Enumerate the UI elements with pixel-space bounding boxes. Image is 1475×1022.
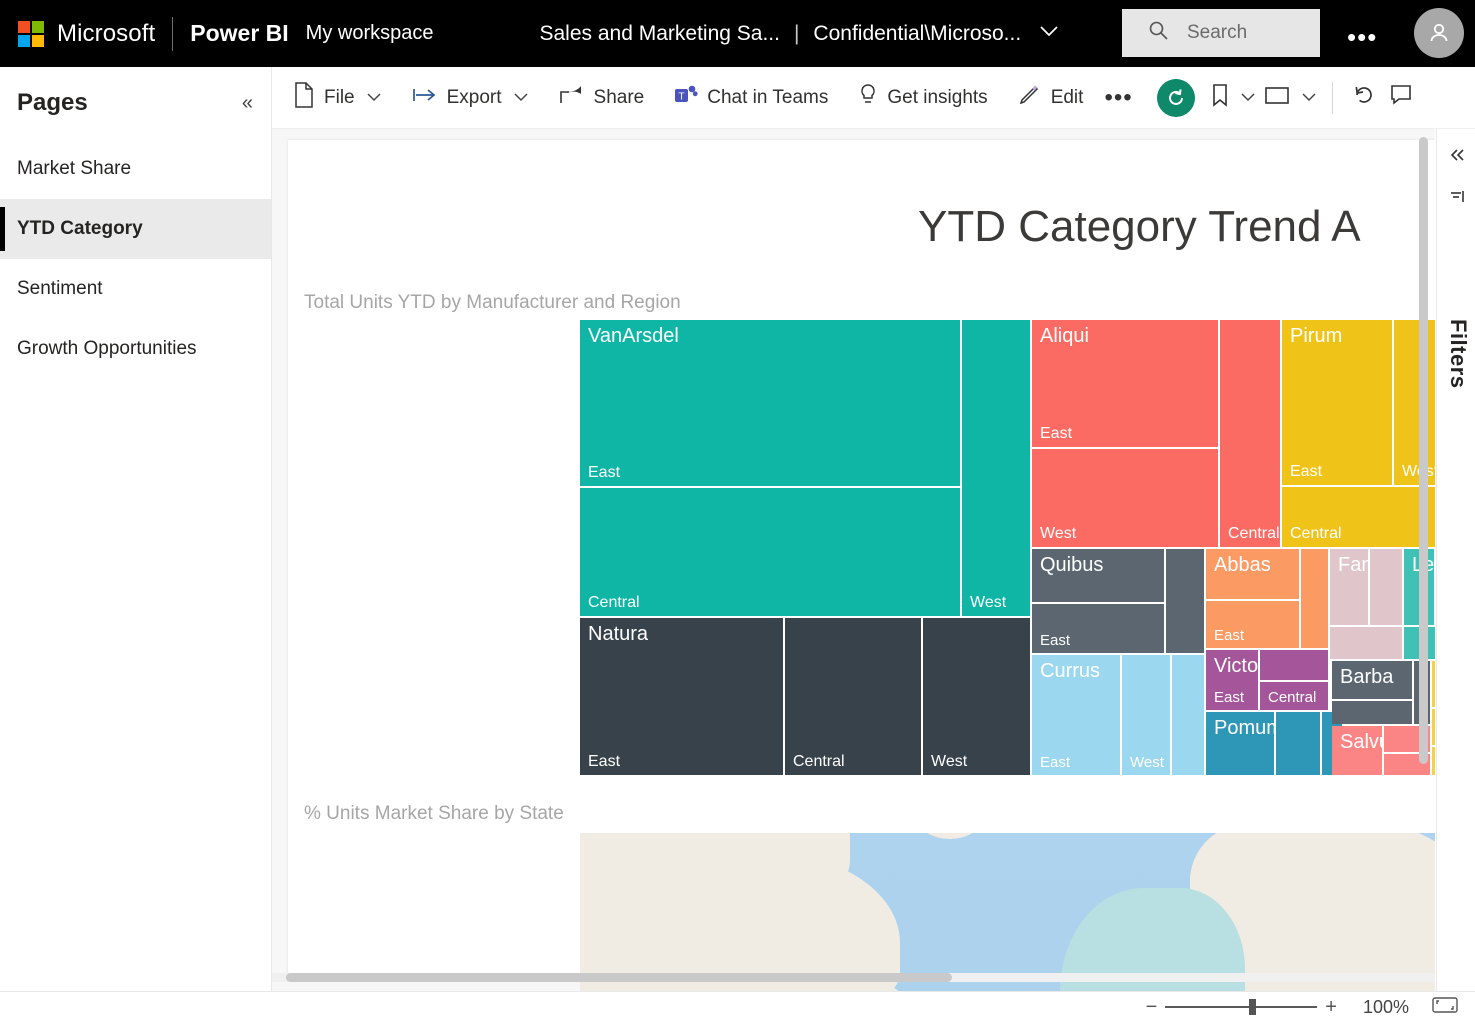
treemap-tile-currus-west[interactable]: West [1122, 655, 1170, 775]
treemap-tile-natura-central[interactable]: Central [785, 618, 921, 775]
map-land-shape [920, 833, 980, 839]
sidebar-item-ytd-category[interactable]: YTD Category [0, 199, 271, 259]
treemap-tile-abbas-east[interactable]: East [1206, 601, 1299, 648]
tile-region: Central [1268, 689, 1316, 706]
lightbulb-icon [858, 83, 878, 113]
share-button[interactable]: Share [550, 67, 654, 129]
treemap-tile-victoria-top[interactable] [1260, 650, 1328, 680]
treemap-tile-vanarsdel-central[interactable]: Central [580, 488, 960, 616]
tile-region: East [1040, 632, 1070, 649]
treemap-tile-pomum[interactable]: Pomum [1206, 712, 1274, 775]
report-toolbar: File Export Share T Chat in Teams Get in… [272, 67, 1475, 129]
svg-text:T: T [679, 91, 685, 102]
microsoft-logo-icon [18, 21, 44, 47]
title-separator: | [794, 22, 799, 46]
toolbar-more-button[interactable]: ••• [1092, 84, 1144, 112]
tile-label: Natura [588, 623, 648, 646]
tile-region: East [588, 753, 620, 771]
canvas-scrollbar-vertical[interactable] [1419, 137, 1428, 764]
tile-region: East [588, 464, 620, 482]
toolbar-separator [1332, 82, 1333, 114]
filters-label: Filters [1445, 319, 1471, 389]
tile-region: East [1040, 425, 1072, 443]
treemap-tile-pirum-west[interactable]: West [1394, 320, 1435, 485]
chevron-down-icon[interactable] [366, 90, 382, 105]
treemap-tile-abbas-other[interactable] [1301, 549, 1328, 648]
microsoft-brand-label: Microsoft [57, 20, 155, 48]
tile-region: East [1214, 689, 1244, 706]
treemap-tile-pomum-b[interactable] [1276, 712, 1320, 775]
search-placeholder: Search [1187, 22, 1247, 44]
tile-region: Central [588, 594, 640, 612]
page-item-label: Growth Opportunities [17, 338, 197, 360]
canvas-scrollbar-horizontal[interactable] [286, 973, 952, 982]
tile-label: Pirum [1290, 325, 1342, 348]
treemap-tile-vanarsdel-east[interactable]: VanArsdel East [580, 320, 960, 486]
treemap-tile-misc-yellow-a[interactable] [1432, 661, 1435, 707]
filter-pane-icon[interactable] [1448, 189, 1466, 210]
export-icon [412, 86, 438, 110]
search-input[interactable]: Search [1122, 9, 1320, 57]
treemap-tile-currus-other[interactable] [1172, 655, 1204, 775]
treemap-tile-natura-west[interactable]: West [923, 618, 1030, 775]
zoom-in-button[interactable]: + [1325, 996, 1337, 1019]
treemap-tile-quibus-other[interactable] [1166, 549, 1204, 653]
view-rectangle-icon [1264, 84, 1290, 112]
tile-region: East [1290, 463, 1322, 481]
tile-region: West [931, 753, 967, 771]
report-canvas: YTD Category Trend A Total Units YTD by … [288, 140, 1435, 975]
chevron-down-icon[interactable] [1240, 90, 1256, 105]
map-title: % Units Market Share by State [304, 803, 564, 825]
tile-label: Aliqui [1040, 325, 1089, 348]
tile-label: Barba [1340, 666, 1393, 689]
chat-in-teams-label: Chat in Teams [707, 87, 828, 109]
refresh-button[interactable] [1344, 67, 1384, 129]
share-icon [559, 84, 585, 112]
tile-label: VanArsdel [588, 325, 679, 348]
edit-label: Edit [1051, 87, 1084, 109]
page-item-label: Market Share [17, 158, 131, 180]
page-title: YTD Category Trend A [918, 202, 1361, 252]
tile-label: Quibus [1040, 554, 1103, 577]
chat-in-teams-button[interactable]: T Chat in Teams [665, 67, 837, 129]
map-land-shape [680, 853, 900, 991]
bookmarks-button[interactable] [1207, 67, 1260, 129]
collapse-pages-icon[interactable]: « [242, 92, 253, 115]
treemap-tile-aliqui-central[interactable]: Central [1220, 320, 1280, 547]
get-insights-button[interactable]: Get insights [849, 67, 996, 129]
comment-icon [1390, 83, 1412, 113]
treemap-tile-quibus-east[interactable]: East [1032, 604, 1164, 653]
treemap-tile-pirum-east[interactable]: Pirum East [1282, 320, 1392, 485]
chevron-down-icon[interactable] [513, 90, 529, 105]
treemap-visual[interactable]: VanArsdel East Central West Natura East … [580, 320, 1435, 775]
treemap-tile-victoria-central[interactable]: Central [1260, 682, 1328, 710]
file-label: File [324, 87, 355, 109]
tile-label: Salvus [1340, 731, 1382, 754]
treemap-tile-salvus-a[interactable]: Salvus [1332, 726, 1382, 775]
chevron-down-icon[interactable] [1039, 25, 1059, 42]
treemap-tile-fama-a[interactable]: Fama [1330, 549, 1368, 625]
tile-region: Central [1228, 525, 1280, 543]
treemap-tile-pirum-central[interactable]: Central [1282, 487, 1435, 547]
get-insights-label: Get insights [887, 87, 987, 109]
zoom-out-button[interactable]: − [1146, 996, 1158, 1019]
share-label: Share [594, 87, 645, 109]
treemap-tile-barba-b[interactable] [1332, 701, 1412, 724]
export-label: Export [447, 87, 502, 109]
avatar[interactable] [1414, 8, 1464, 58]
treemap-tile-quibus[interactable]: Quibus [1032, 549, 1164, 602]
pages-title: Pages [17, 89, 242, 117]
view-button[interactable] [1260, 67, 1321, 129]
zoom-slider[interactable] [1165, 1006, 1317, 1008]
treemap-tile-aliqui-east[interactable]: Aliqui East [1032, 320, 1218, 447]
treemap-tile-fama-b[interactable] [1370, 549, 1402, 625]
chevron-down-icon[interactable] [1301, 90, 1317, 105]
sidebar-item-sentiment[interactable]: Sentiment [0, 259, 271, 319]
workspace-link[interactable]: My workspace [306, 22, 434, 45]
sidebar-item-market-share[interactable]: Market Share [0, 139, 271, 199]
teams-icon: T [674, 84, 698, 112]
treemap-tile-currus-east[interactable]: Currus East [1032, 655, 1120, 775]
map-visual[interactable] [580, 833, 1435, 991]
treemap-tile-aliqui-west[interactable]: West [1032, 449, 1218, 547]
status-bar: − + 100% [0, 991, 1475, 1022]
bookmark-icon [1211, 83, 1229, 113]
tile-region: East [1214, 627, 1244, 644]
sensitivity-label[interactable]: Confidential\Microso... [813, 22, 1021, 46]
zoom-slider-thumb[interactable] [1249, 999, 1256, 1015]
refresh-icon [1352, 83, 1376, 113]
tile-label: Abbas [1214, 554, 1271, 577]
page-item-label: Sentiment [17, 278, 103, 300]
header-divider [172, 17, 173, 51]
page-item-label: YTD Category [17, 218, 143, 240]
treemap-tile-misc-yellow-c[interactable] [1432, 747, 1435, 775]
edit-button[interactable]: Edit [1009, 67, 1093, 129]
tile-region: Central [1290, 525, 1342, 543]
app-header: Microsoft Power BI My workspace Sales an… [0, 0, 1475, 67]
filters-rail[interactable]: Filters [1436, 129, 1475, 991]
report-title[interactable]: Sales and Marketing Sa... [539, 22, 779, 46]
pencil-icon [1018, 83, 1042, 113]
report-canvas-area: YTD Category Trend A Total Units YTD by … [272, 129, 1435, 991]
reset-button[interactable] [1157, 79, 1195, 117]
powerbi-home-link[interactable]: Power BI [190, 20, 288, 47]
search-icon [1148, 20, 1169, 46]
sidebar-item-growth-opportunities[interactable]: Growth Opportunities [0, 319, 271, 379]
tile-region: West [1040, 525, 1076, 543]
tile-label: Pomum [1214, 717, 1274, 740]
pages-header: Pages « [0, 67, 271, 139]
treemap-tile-vanarsdel-west[interactable]: West [962, 320, 1030, 616]
file-menu-button[interactable]: File [284, 67, 391, 129]
tile-region: West [970, 594, 1006, 612]
tile-label: Fama [1338, 554, 1368, 577]
pages-panel: Pages « Market Share YTD Category Sentim… [0, 67, 272, 1022]
treemap-tile-barba-a[interactable]: Barba [1332, 661, 1412, 699]
treemap-tile-natura-east[interactable]: Natura East [580, 618, 783, 775]
header-more-button[interactable]: ••• [1347, 22, 1377, 53]
treemap-tile-misc-yellow-b[interactable] [1432, 709, 1435, 745]
tile-region: Central [793, 753, 845, 771]
expand-filters-icon[interactable] [1448, 147, 1466, 168]
export-menu-button[interactable]: Export [403, 67, 538, 129]
treemap-tile-victoria-east[interactable]: Victoria East [1206, 650, 1258, 710]
comments-button[interactable] [1384, 67, 1418, 129]
tile-label: Currus [1040, 660, 1100, 683]
fit-to-page-icon[interactable] [1431, 995, 1459, 1020]
tile-region: West [1130, 754, 1164, 771]
tile-label: Victoria [1214, 655, 1258, 678]
file-icon [293, 82, 315, 114]
tile-region: East [1040, 754, 1070, 771]
treemap-tile-abbas[interactable]: Abbas [1206, 549, 1299, 599]
zoom-level-label: 100% [1363, 997, 1409, 1018]
treemap-tile-fama-c[interactable] [1330, 627, 1402, 659]
treemap-title: Total Units YTD by Manufacturer and Regi… [304, 292, 681, 314]
